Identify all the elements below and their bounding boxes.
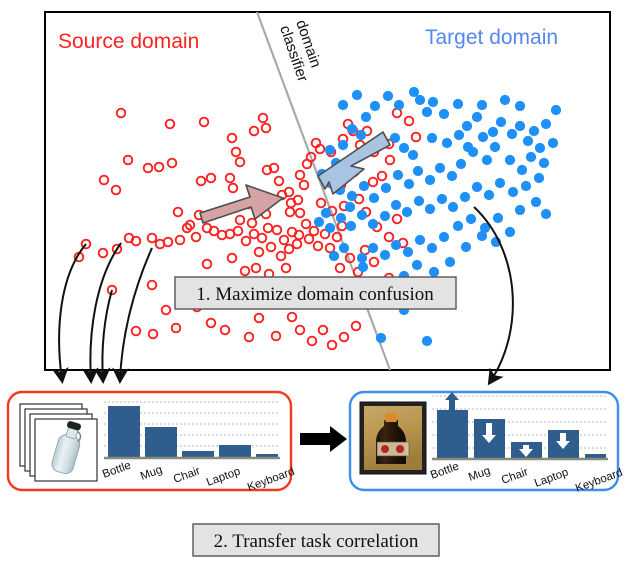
bar-mug [145, 427, 177, 457]
bar-chair [182, 451, 214, 457]
transfer-arrow [300, 426, 347, 452]
bar-keyboard [585, 454, 606, 458]
figure-root: Source domain Target domain domain class… [0, 0, 626, 574]
bar-bottle [108, 406, 140, 457]
step2-label: 2. Transfer task correlation [214, 531, 419, 552]
bar-bottle [437, 410, 468, 458]
step1-callout: 1. Maximize domain confusion [175, 277, 456, 309]
left-panel: Bottle Mug Chair Laptop Keyboard [8, 392, 296, 494]
source-domain-label: Source domain [58, 30, 199, 53]
water-bottle-stack-thumbnail [20, 404, 97, 481]
right-panel: Bottle Mug Chair Laptop Keyboard [350, 392, 624, 495]
bar-laptop [219, 445, 251, 457]
step1-label: 1. Maximize domain confusion [196, 284, 434, 305]
soda-bottle-photo-thumbnail [360, 402, 426, 474]
target-domain-label: Target domain [425, 26, 558, 49]
step2-callout: 2. Transfer task correlation [193, 524, 439, 556]
bar-keyboard [256, 454, 278, 457]
